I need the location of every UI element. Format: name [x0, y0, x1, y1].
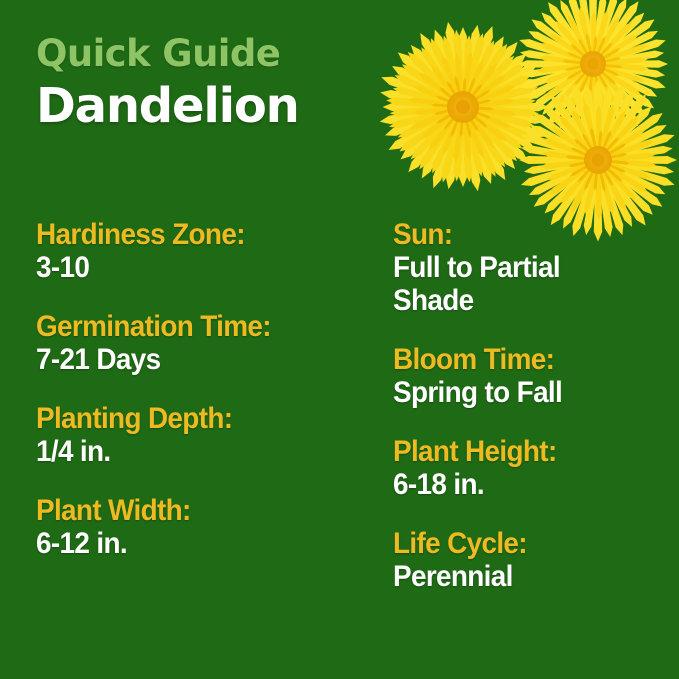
fact-plant-width: Plant Width: 6-12 in. — [36, 494, 381, 560]
fact-label: Sun: — [393, 218, 649, 251]
left-fact-column: Hardiness Zone: 3-10 Germination Time: 7… — [36, 218, 381, 560]
fact-label: Germination Time: — [36, 310, 357, 343]
fact-hardiness-zone: Hardiness Zone: 3-10 — [36, 218, 381, 284]
kicker-text: Quick Guide — [36, 32, 299, 76]
fact-life-cycle: Life Cycle: Perennial — [393, 527, 668, 593]
fact-value: 6-12 in. — [36, 527, 357, 560]
fact-value: Perennial — [393, 560, 649, 593]
header: Quick Guide Dandelion — [36, 32, 299, 134]
fact-planting-depth: Planting Depth: 1/4 in. — [36, 402, 381, 468]
fact-label: Planting Depth: — [36, 402, 357, 435]
fact-value: Spring to Fall — [393, 376, 649, 409]
fact-germination-time: Germination Time: 7-21 Days — [36, 310, 381, 376]
fact-value: Full to Partial Shade — [393, 251, 649, 317]
fact-label: Plant Width: — [36, 494, 357, 527]
page-title: Dandelion — [36, 78, 299, 134]
fact-value: 6-18 in. — [393, 468, 649, 501]
fact-plant-height: Plant Height: 6-18 in. — [393, 435, 668, 501]
fact-value: 7-21 Days — [36, 343, 357, 376]
fact-label: Bloom Time: — [393, 343, 649, 376]
fact-bloom-time: Bloom Time: Spring to Fall — [393, 343, 668, 409]
fact-label: Plant Height: — [393, 435, 649, 468]
fact-label: Hardiness Zone: — [36, 218, 357, 251]
fact-label: Life Cycle: — [393, 527, 649, 560]
fact-value: 1/4 in. — [36, 435, 357, 468]
fact-sun: Sun: Full to Partial Shade — [393, 218, 668, 317]
quick-guide-infographic: Quick Guide Dandelion — [0, 0, 679, 679]
fact-value: 3-10 — [36, 251, 357, 284]
right-fact-column: Sun: Full to Partial Shade Bloom Time: S… — [393, 218, 668, 593]
dandelion-flowers-image — [355, 0, 679, 244]
